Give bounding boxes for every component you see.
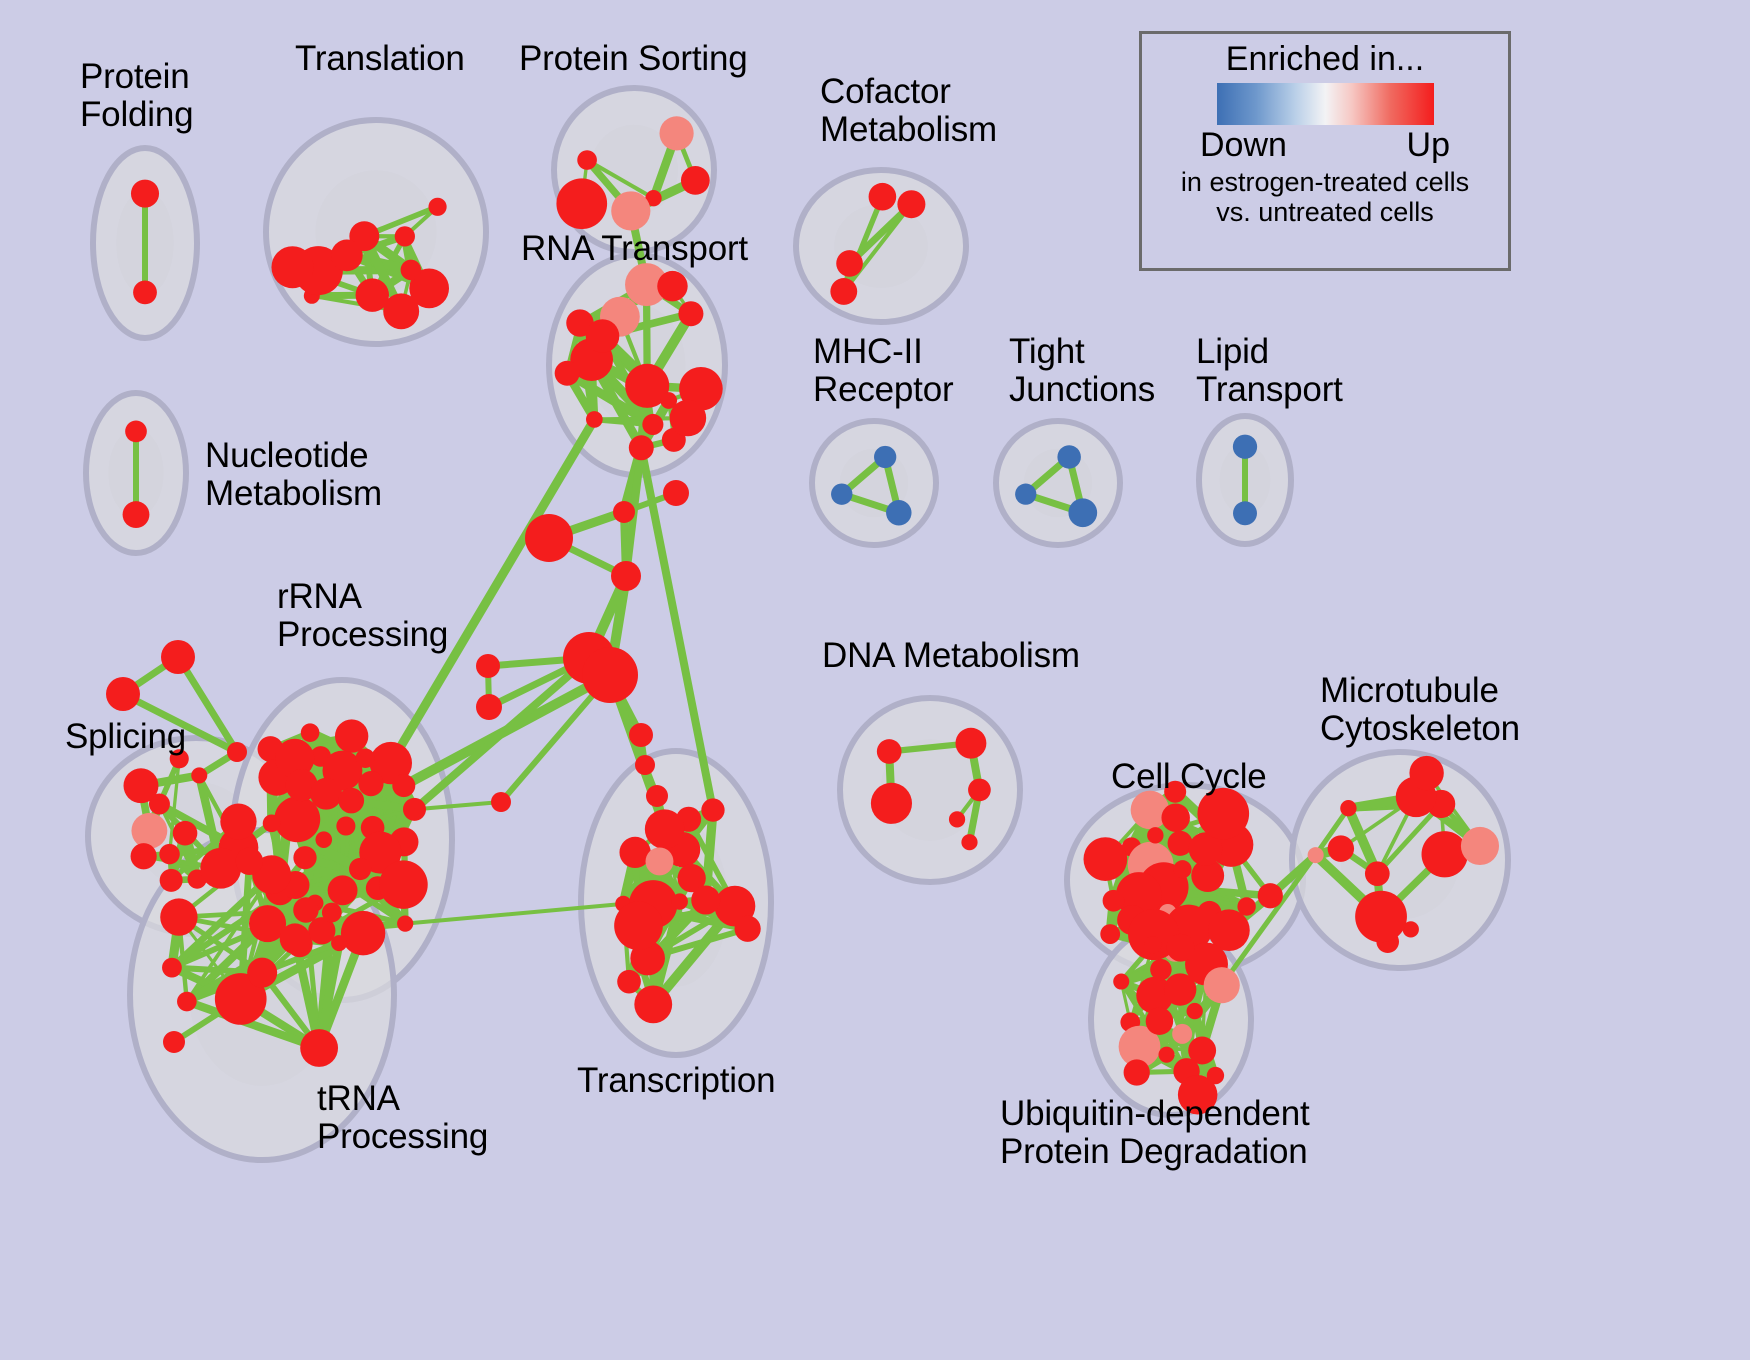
network-node[interactable] bbox=[293, 846, 316, 869]
cluster-tight-junctions[interactable] bbox=[996, 421, 1120, 545]
network-node[interactable] bbox=[200, 848, 241, 889]
network-node[interactable] bbox=[491, 792, 511, 812]
network-node[interactable] bbox=[220, 803, 256, 839]
network-node[interactable] bbox=[701, 798, 724, 821]
network-node[interactable] bbox=[1340, 800, 1356, 816]
network-node[interactable] bbox=[159, 844, 179, 864]
network-node[interactable] bbox=[831, 483, 852, 504]
cluster-label-protein-folding: Protein Folding bbox=[80, 58, 193, 134]
network-node[interactable] bbox=[1144, 936, 1161, 953]
network-node[interactable] bbox=[1057, 445, 1080, 468]
network-node[interactable] bbox=[1103, 890, 1125, 912]
network-node[interactable] bbox=[961, 834, 977, 850]
network-node[interactable] bbox=[1164, 973, 1196, 1005]
network-node[interactable] bbox=[635, 755, 655, 775]
network-node[interactable] bbox=[671, 893, 687, 909]
cluster-label-tight-junctions: Tight Junctions bbox=[1009, 333, 1155, 409]
network-node[interactable] bbox=[1355, 891, 1407, 943]
network-node[interactable] bbox=[328, 875, 358, 905]
network-node[interactable] bbox=[191, 767, 207, 783]
network-node[interactable] bbox=[556, 178, 607, 229]
network-node[interactable] bbox=[379, 860, 427, 908]
cluster-label-translation: Translation bbox=[295, 40, 465, 78]
cluster-label-protein-sorting: Protein Sorting bbox=[519, 40, 748, 78]
network-node[interactable] bbox=[886, 500, 911, 525]
network-node[interactable] bbox=[1422, 831, 1468, 877]
network-node[interactable] bbox=[629, 723, 653, 747]
cluster-label-cofactor-metabolism: Cofactor Metabolism bbox=[820, 73, 997, 149]
legend-caption-line1: in estrogen-treated cells bbox=[1181, 167, 1469, 197]
network-node[interactable] bbox=[646, 785, 668, 807]
network-node[interactable] bbox=[336, 816, 355, 835]
network-node[interactable] bbox=[1161, 803, 1189, 831]
cluster-label-mhc-ii-receptor: MHC-II Receptor bbox=[813, 333, 953, 409]
network-node[interactable] bbox=[634, 985, 672, 1023]
network-node[interactable] bbox=[271, 246, 313, 288]
network-node[interactable] bbox=[173, 821, 198, 846]
network-node[interactable] bbox=[341, 911, 385, 955]
legend-box: Enriched in... Down Up in estrogen-treat… bbox=[1139, 31, 1511, 271]
network-node[interactable] bbox=[163, 1031, 185, 1053]
network-node[interactable] bbox=[476, 694, 502, 720]
network-node[interactable] bbox=[681, 166, 710, 195]
network-node[interactable] bbox=[125, 421, 147, 443]
network-node[interactable] bbox=[236, 848, 263, 875]
cluster-label-trna-processing: tRNA Processing bbox=[317, 1080, 488, 1156]
network-node[interactable] bbox=[392, 774, 415, 797]
network-node[interactable] bbox=[657, 271, 687, 301]
network-node[interactable] bbox=[263, 814, 281, 832]
network-node[interactable] bbox=[338, 788, 364, 814]
network-node[interactable] bbox=[124, 768, 159, 803]
network-node[interactable] bbox=[1233, 435, 1257, 459]
network-node[interactable] bbox=[300, 1029, 338, 1067]
cluster-label-transcription: Transcription bbox=[577, 1062, 775, 1100]
network-node[interactable] bbox=[358, 771, 383, 796]
network-node[interactable] bbox=[586, 411, 603, 428]
network-node[interactable] bbox=[614, 901, 663, 950]
network-node[interactable] bbox=[247, 958, 277, 988]
network-node[interactable] bbox=[397, 916, 413, 932]
network-node[interactable] bbox=[331, 935, 347, 951]
network-node[interactable] bbox=[659, 116, 693, 150]
network-node[interactable] bbox=[582, 647, 638, 703]
network-node[interactable] bbox=[331, 240, 363, 272]
legend-caption: in estrogen-treated cells vs. untreated … bbox=[1181, 167, 1469, 227]
network-node[interactable] bbox=[611, 561, 641, 591]
network-node[interactable] bbox=[617, 970, 641, 994]
network-node[interactable] bbox=[663, 480, 689, 506]
network-node[interactable] bbox=[1158, 1047, 1174, 1063]
network-node[interactable] bbox=[301, 723, 320, 742]
network-node[interactable] bbox=[1233, 501, 1257, 525]
cluster-label-microtubule-cytoskeleton: Microtubule Cytoskeleton bbox=[1320, 672, 1520, 748]
network-node[interactable] bbox=[691, 885, 720, 914]
network-node[interactable] bbox=[968, 779, 991, 802]
network-node[interactable] bbox=[1188, 1037, 1216, 1065]
network-node[interactable] bbox=[525, 514, 573, 562]
network-node[interactable] bbox=[949, 811, 965, 827]
cluster-mhc-ii-receptor[interactable] bbox=[812, 421, 936, 545]
network-node[interactable] bbox=[1015, 484, 1036, 505]
network-node[interactable] bbox=[877, 739, 902, 764]
network-node[interactable] bbox=[1172, 1024, 1192, 1044]
network-node[interactable] bbox=[1100, 924, 1120, 944]
network-node[interactable] bbox=[322, 903, 342, 923]
cluster-label-lipid-transport: Lipid Transport bbox=[1196, 333, 1343, 409]
network-node[interactable] bbox=[131, 180, 159, 208]
network-node[interactable] bbox=[133, 280, 157, 304]
network-node[interactable] bbox=[678, 301, 703, 326]
network-node[interactable] bbox=[293, 897, 318, 922]
network-node[interactable] bbox=[869, 183, 897, 211]
network-node[interactable] bbox=[670, 400, 707, 437]
cluster-label-splicing: Splicing bbox=[65, 718, 186, 756]
network-node[interactable] bbox=[161, 640, 195, 674]
network-node[interactable] bbox=[1258, 883, 1283, 908]
network-node[interactable] bbox=[1365, 861, 1390, 886]
network-node[interactable] bbox=[401, 260, 422, 281]
network-node[interactable] bbox=[162, 958, 182, 978]
cluster-label-rna-transport: RNA Transport bbox=[521, 230, 748, 268]
network-node[interactable] bbox=[1084, 837, 1128, 881]
legend-title: Enriched in... bbox=[1226, 40, 1424, 79]
network-node[interactable] bbox=[476, 654, 500, 678]
network-node[interactable] bbox=[106, 677, 140, 711]
cluster-label-cell-cycle: Cell Cycle bbox=[1111, 758, 1267, 796]
network-node[interactable] bbox=[955, 728, 986, 759]
network-node[interactable] bbox=[160, 898, 197, 935]
network-node[interactable] bbox=[123, 501, 150, 528]
network-node[interactable] bbox=[1204, 967, 1240, 1003]
cluster-label-dna-metabolism: DNA Metabolism bbox=[822, 637, 1080, 675]
network-node[interactable] bbox=[646, 847, 674, 875]
network-node[interactable] bbox=[280, 923, 311, 954]
network-node[interactable] bbox=[1146, 1007, 1174, 1035]
network-node[interactable] bbox=[177, 992, 197, 1012]
cluster-dna-metabolism[interactable] bbox=[840, 698, 1020, 882]
network-node[interactable] bbox=[356, 749, 375, 768]
enrichment-map-figure: Protein FoldingTranslationProtein Sortin… bbox=[0, 0, 1750, 1360]
network-node[interactable] bbox=[1308, 847, 1324, 863]
network-node[interactable] bbox=[836, 250, 863, 277]
network-node[interactable] bbox=[1113, 973, 1129, 989]
network-node[interactable] bbox=[349, 858, 371, 880]
network-node[interactable] bbox=[577, 150, 597, 170]
network-node[interactable] bbox=[642, 414, 663, 435]
network-node[interactable] bbox=[131, 843, 157, 869]
network-node[interactable] bbox=[310, 778, 342, 810]
network-node[interactable] bbox=[1461, 827, 1499, 865]
network-node[interactable] bbox=[586, 319, 620, 353]
network-node[interactable] bbox=[227, 742, 247, 762]
network-node[interactable] bbox=[131, 813, 167, 849]
network-node[interactable] bbox=[874, 446, 896, 468]
network-node[interactable] bbox=[1124, 1059, 1150, 1085]
network-node[interactable] bbox=[871, 783, 912, 824]
network-node[interactable] bbox=[335, 719, 368, 752]
network-node[interactable] bbox=[629, 435, 654, 460]
network-node[interactable] bbox=[1168, 831, 1193, 856]
legend-color-gradient-bar bbox=[1217, 83, 1434, 125]
network-node[interactable] bbox=[1173, 860, 1191, 878]
network-node[interactable] bbox=[1207, 1067, 1224, 1084]
network-node[interactable] bbox=[274, 796, 320, 842]
network-node[interactable] bbox=[645, 809, 685, 849]
network-node[interactable] bbox=[734, 916, 760, 942]
network-node[interactable] bbox=[428, 198, 446, 216]
network-node[interactable] bbox=[613, 501, 635, 523]
network-node[interactable] bbox=[1409, 756, 1443, 790]
network-node[interactable] bbox=[1068, 498, 1097, 527]
network-node[interactable] bbox=[403, 798, 426, 821]
cluster-label-ubiquitin-protein-degradation: Ubiquitin-dependent Protein Degradation bbox=[1000, 1095, 1310, 1171]
network-node[interactable] bbox=[1147, 827, 1163, 843]
cluster-label-rrna-processing: rRNA Processing bbox=[277, 578, 448, 654]
legend-caption-line2: vs. untreated cells bbox=[1181, 197, 1469, 227]
legend-endpoint-labels: Down Up bbox=[1200, 126, 1450, 165]
network-node[interactable] bbox=[830, 278, 857, 305]
network-node[interactable] bbox=[897, 190, 925, 218]
network-node[interactable] bbox=[1328, 835, 1354, 861]
network-node[interactable] bbox=[1187, 1003, 1203, 1019]
legend-low-label: Down bbox=[1200, 126, 1287, 165]
network-node[interactable] bbox=[611, 191, 650, 230]
network-node[interactable] bbox=[383, 293, 419, 329]
network-node[interactable] bbox=[315, 831, 332, 848]
network-node[interactable] bbox=[555, 361, 580, 386]
network-node[interactable] bbox=[160, 869, 183, 892]
network-node[interactable] bbox=[1167, 934, 1195, 962]
network-node[interactable] bbox=[1150, 959, 1171, 980]
network-node[interactable] bbox=[395, 226, 415, 246]
cluster-label-nucleotide-metabolism: Nucleotide Metabolism bbox=[205, 437, 382, 513]
legend-high-label: Up bbox=[1407, 126, 1450, 165]
